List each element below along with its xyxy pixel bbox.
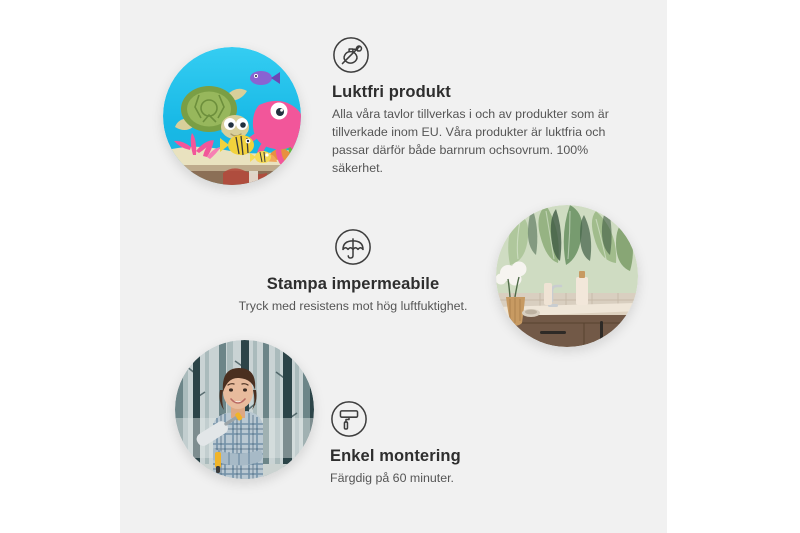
product-photo-installer[interactable]	[175, 340, 314, 479]
no-fragrance-icon	[332, 36, 370, 74]
umbrella-icon	[334, 228, 372, 266]
underwater-illustration	[163, 47, 301, 185]
paint-roller-icon-wrap	[330, 400, 368, 438]
feature-waterproof-print: Stampa impermeabile Tryck med resistens …	[208, 228, 498, 316]
no-fragrance-icon-wrap	[332, 36, 370, 74]
feature-body: Färgdig på 60 minuter.	[330, 470, 620, 488]
promo-canvas: Luktfri produkt Alla våra tavlor tillver…	[0, 0, 800, 533]
bathroom-photo	[496, 205, 638, 347]
product-photo-bathroom[interactable]	[496, 205, 638, 347]
feature-easy-mounting: Enkel montering Färgdig på 60 minuter.	[330, 400, 620, 488]
paint-roller-icon	[330, 400, 368, 438]
installer-photo	[175, 340, 314, 479]
product-photo-underwater[interactable]	[163, 47, 301, 185]
feature-title: Enkel montering	[330, 447, 620, 466]
feature-odour-free: Luktfri produkt Alla våra tavlor tillver…	[332, 36, 624, 178]
umbrella-icon-wrap	[334, 228, 372, 266]
feature-body: Tryck med resistens mot hög luftfuktighe…	[208, 298, 498, 316]
feature-title: Stampa impermeabile	[208, 275, 498, 294]
feature-body: Alla våra tavlor tillverkas i och av pro…	[332, 106, 624, 178]
feature-title: Luktfri produkt	[332, 83, 624, 102]
